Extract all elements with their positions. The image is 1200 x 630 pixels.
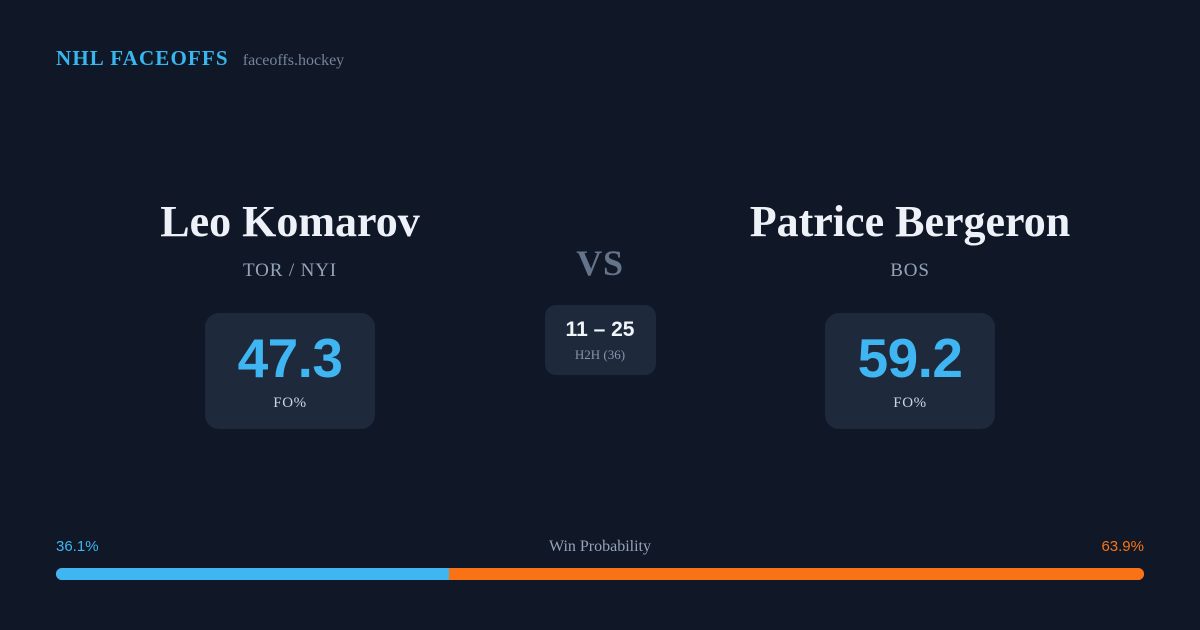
win-probability-section: 36.1% Win Probability 63.9% (56, 538, 1144, 580)
player-teams-right: BOS (890, 260, 930, 282)
head-to-head-card: 11 – 25 H2H (36) (545, 305, 656, 375)
site-domain-label: faceoffs.hockey (243, 52, 344, 70)
win-probability-title: Win Probability (56, 538, 1144, 556)
stat-card-right: 59.2 FO% (825, 313, 995, 429)
player-teams-left: TOR / NYI (243, 260, 337, 282)
brand-wordmark: NHL FACEOFFS (56, 46, 229, 71)
win-probability-bar-left-fill (56, 568, 449, 580)
site-header: NHL FACEOFFS faceoffs.hockey (56, 46, 344, 71)
player-name-right: Patrice Bergeron (750, 196, 1070, 248)
matchup-section: Leo Komarov TOR / NYI 47.3 FO% VS 11 – 2… (0, 196, 1200, 429)
versus-panel: VS 11 – 25 H2H (36) (525, 196, 675, 375)
stat-card-left: 47.3 FO% (205, 313, 375, 429)
win-probability-right-percent: 63.9% (1101, 538, 1144, 555)
stat-value-left: 47.3 (238, 330, 343, 386)
win-probability-labels: 36.1% Win Probability 63.9% (56, 538, 1144, 560)
versus-label: VS (576, 244, 623, 282)
win-probability-bar (56, 568, 1144, 580)
win-probability-bar-right-fill (449, 568, 1144, 580)
player-panel-left: Leo Komarov TOR / NYI 47.3 FO% (55, 196, 525, 429)
head-to-head-record: 11 – 25 (566, 318, 635, 342)
stat-value-right: 59.2 (858, 330, 963, 386)
stat-label-left: FO% (273, 395, 306, 412)
stat-label-right: FO% (893, 395, 926, 412)
head-to-head-label: H2H (36) (575, 347, 625, 363)
player-name-left: Leo Komarov (160, 196, 420, 248)
player-panel-right: Patrice Bergeron BOS 59.2 FO% (675, 196, 1145, 429)
